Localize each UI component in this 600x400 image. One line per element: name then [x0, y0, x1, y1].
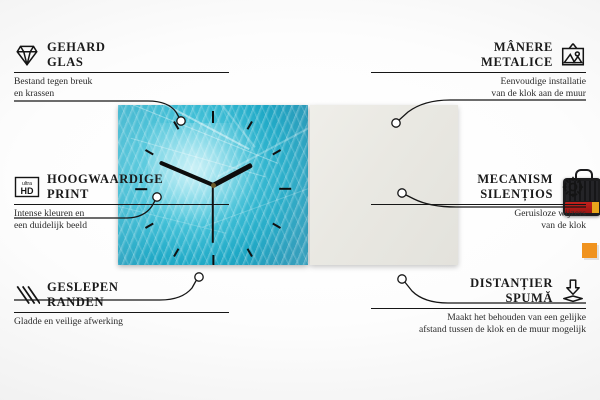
feature-description: Intense kleuren en een duidelijk beeld: [14, 208, 229, 233]
feature-header: MÂNERE METALICE: [371, 40, 586, 70]
feature-description: Gladde en veilige afwerking: [14, 316, 229, 328]
svg-text:HD: HD: [21, 186, 34, 196]
down-arrow-pad-icon: [560, 278, 586, 304]
foam-spacer: [582, 243, 597, 258]
diagonal-lines-icon: [14, 282, 40, 308]
feature-hoogwaardige-print: ultra HD HOOGWAARDIGE PRINT Intense kleu…: [14, 172, 229, 233]
clock-tick-12: [212, 111, 214, 123]
feature-title: GESLEPEN RANDEN: [47, 280, 119, 310]
clock-tick-3: [279, 188, 291, 190]
feature-manere-metalice: MÂNERE METALICE Eenvoudige installatie v…: [371, 40, 586, 101]
clock-second-hand: [212, 185, 214, 243]
feature-title: MECANISM SILENȚIOS: [477, 172, 553, 202]
feature-header: GEHARD GLAS: [14, 40, 229, 70]
feature-description: Eenvoudige installatie van de klok aan d…: [371, 76, 586, 101]
feature-description: Geruisloze wijzers van de klok: [371, 208, 586, 233]
clock-center-hub: [211, 183, 216, 188]
feature-geslepen-randen: GESLEPEN RANDEN Gladde en veilige afwerk…: [14, 280, 229, 328]
diamond-icon: [14, 42, 40, 68]
feature-distantier-spuma: DISTANȚIER SPUMĂ Maakt het behouden van …: [371, 276, 586, 337]
divider: [371, 308, 586, 309]
gear-icon: [560, 174, 586, 200]
feature-header: MECANISM SILENȚIOS: [371, 172, 586, 202]
feature-header: DISTANȚIER SPUMĂ: [371, 276, 586, 306]
feature-description: Bestand tegen breuk en krassen: [14, 76, 229, 101]
feature-mecanism-silentios: MECANISM SILENȚIOS Geruisloze wijzers va…: [371, 172, 586, 233]
feature-title: DISTANȚIER SPUMĂ: [470, 276, 553, 306]
feature-title: HOOGWAARDIGE PRINT: [47, 172, 163, 202]
divider: [371, 72, 586, 73]
feature-header: GESLEPEN RANDEN: [14, 280, 229, 310]
divider: [14, 312, 229, 313]
feature-gehard-glas: GEHARD GLAS Bestand tegen breuk en krass…: [14, 40, 229, 101]
divider: [14, 204, 229, 205]
infographic-canvas: GEHARD GLAS Bestand tegen breuk en krass…: [0, 0, 600, 400]
ultra-hd-icon: ultra HD: [14, 174, 40, 200]
clock-tick-6: [212, 255, 214, 265]
divider: [14, 72, 229, 73]
divider: [371, 204, 586, 205]
picture-frame-icon: [560, 42, 586, 68]
feature-title: GEHARD GLAS: [47, 40, 105, 70]
feature-description: Maakt het behouden van een gelijke afsta…: [371, 312, 586, 337]
battery-terminal: [592, 202, 599, 213]
feature-title: MÂNERE METALICE: [481, 40, 553, 70]
